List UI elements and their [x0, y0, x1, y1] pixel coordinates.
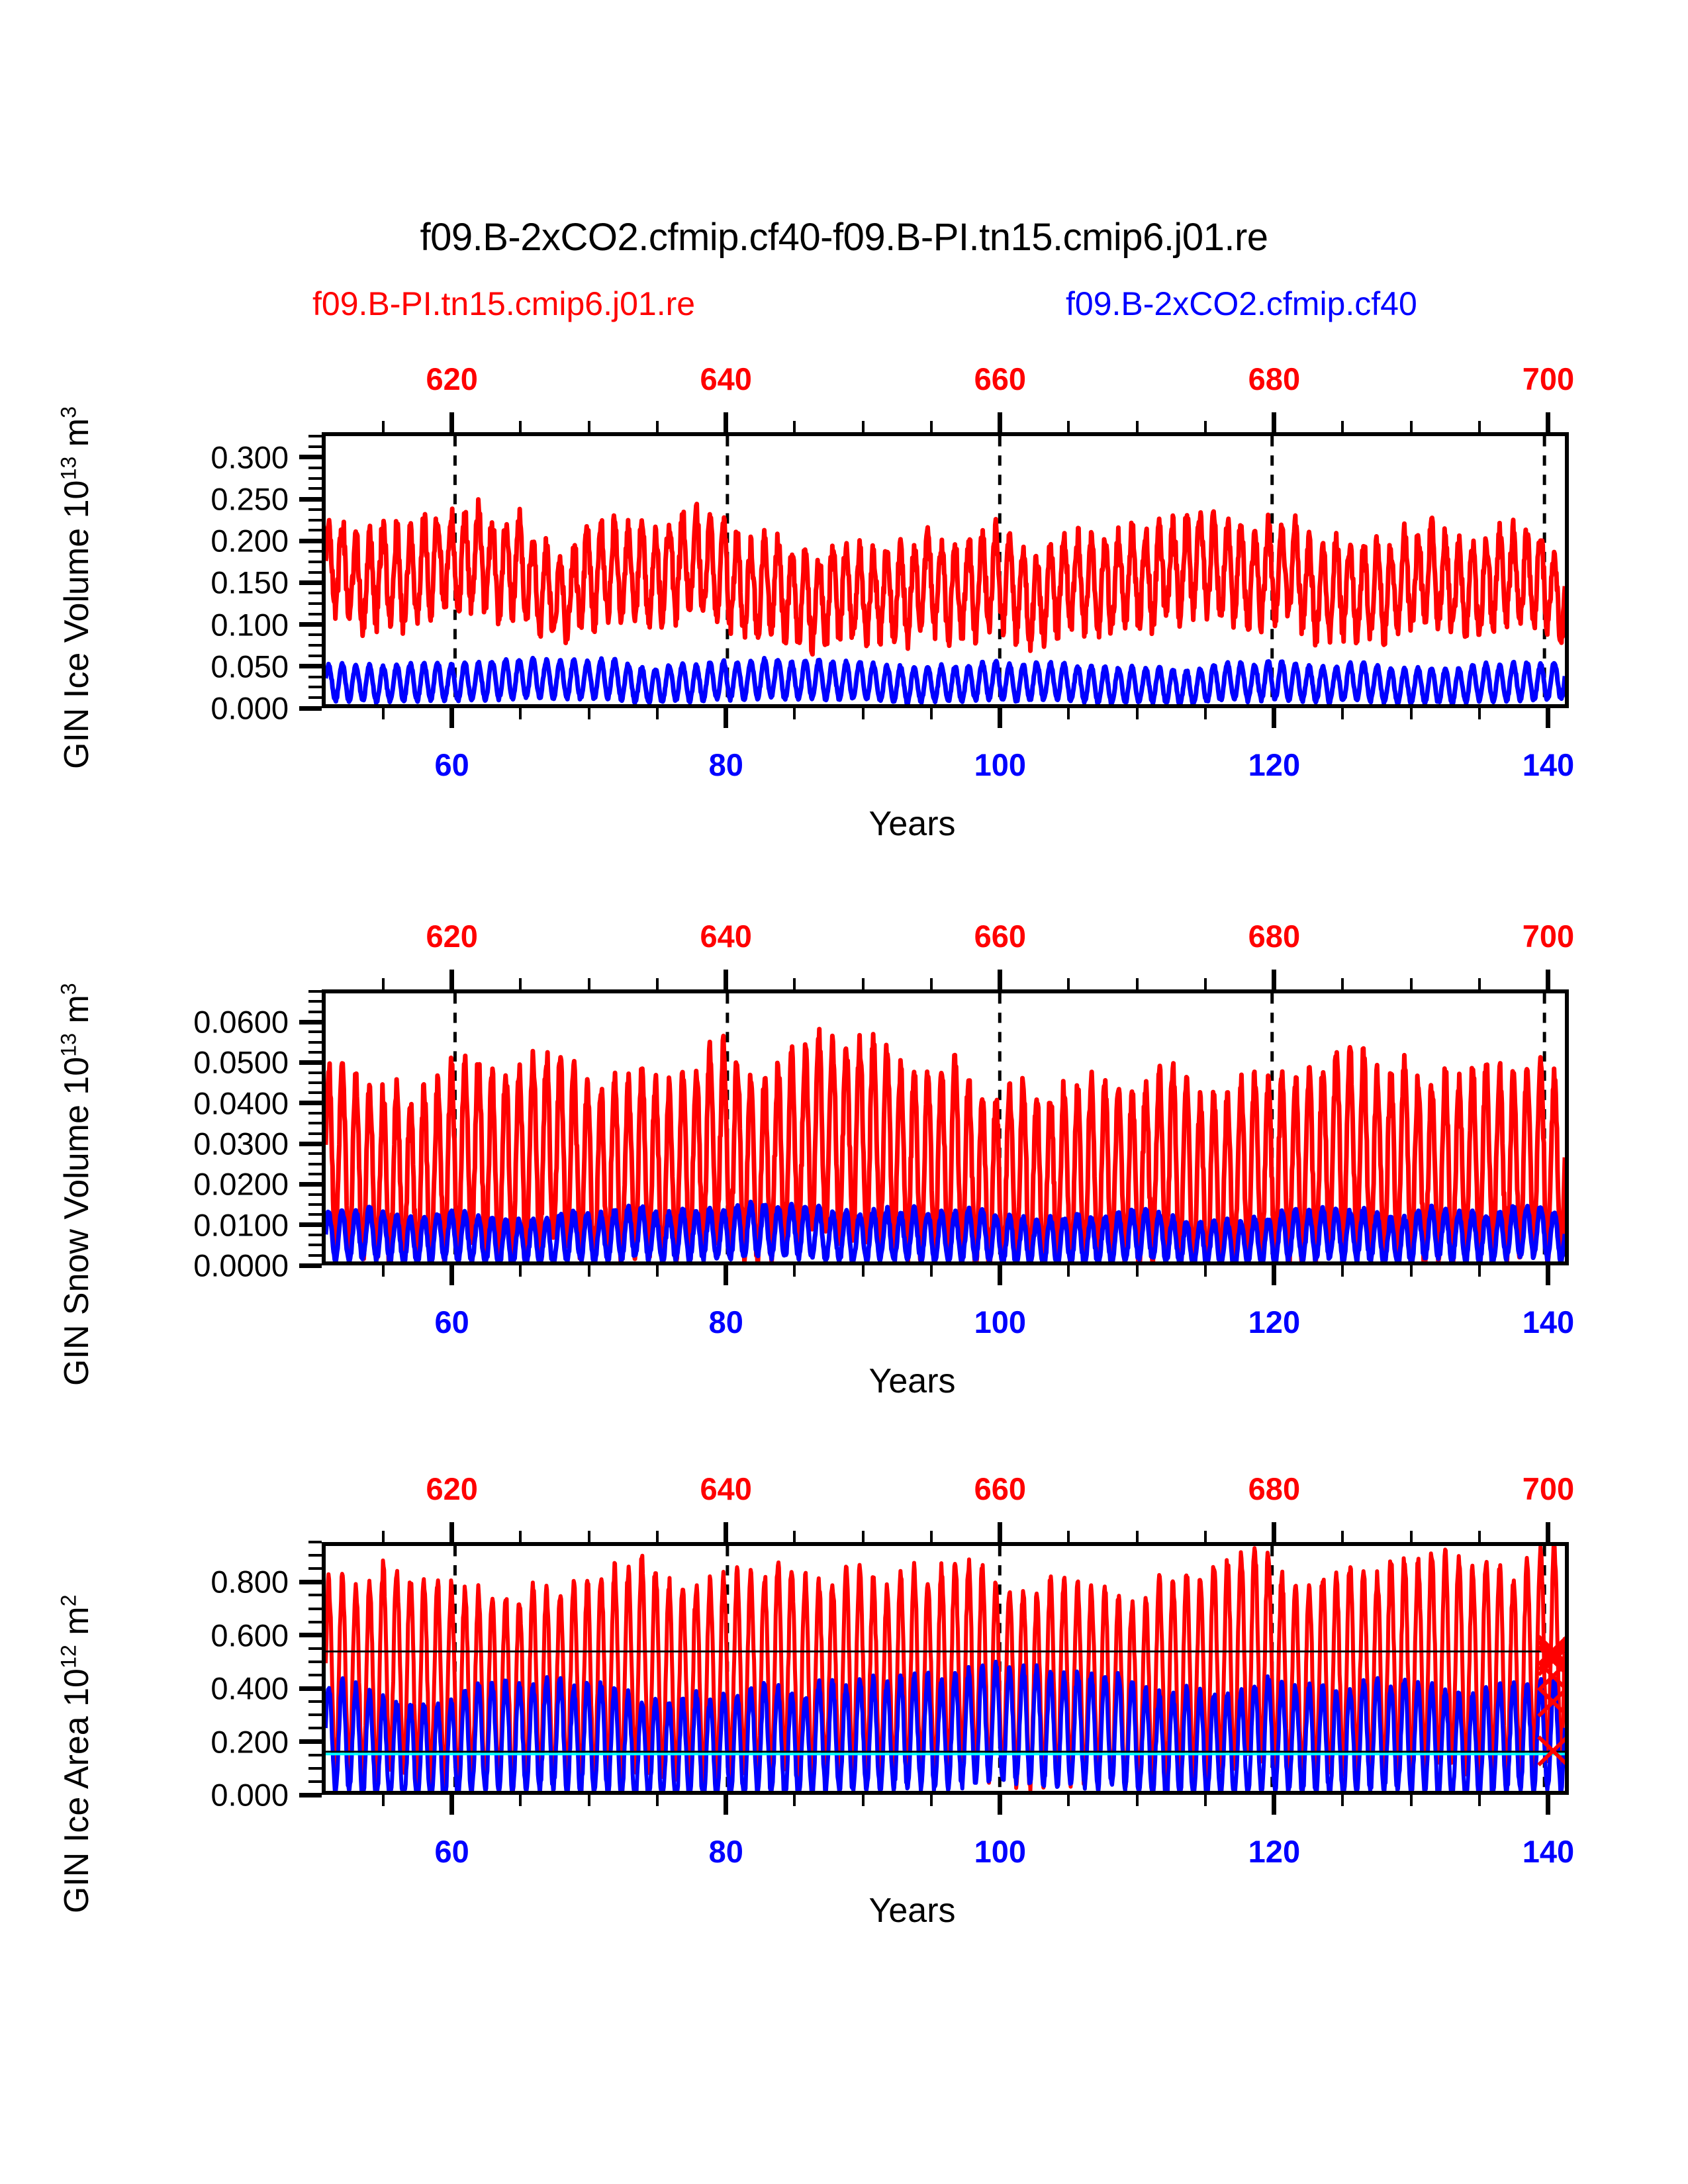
top-axis-minor-tick — [1136, 421, 1139, 432]
y-axis-minor-tick — [308, 1541, 322, 1543]
top-axis-minor-tick — [1341, 421, 1344, 432]
top-axis-minor-tick — [656, 1531, 659, 1542]
bottom-axis-minor-tick — [930, 1795, 933, 1806]
bottom-axis-minor-tick — [382, 1795, 385, 1806]
y-axis-tick-label: 0.000 — [123, 690, 289, 727]
top-axis-minor-tick — [862, 978, 865, 989]
bottom-axis-minor-tick — [793, 708, 796, 719]
y-axis-minor-tick — [308, 1234, 322, 1236]
y-axis-minor-tick — [308, 1030, 322, 1033]
top-axis-minor-tick — [1204, 1531, 1207, 1542]
bottom-axis-minor-tick — [1136, 708, 1139, 719]
top-axis-tick-label: 700 — [1523, 1471, 1574, 1507]
top-axis-major-tick — [724, 1522, 728, 1542]
y-axis-major-tick — [299, 497, 322, 502]
y-axis-tick-label: 0.0500 — [123, 1044, 289, 1081]
y-axis-minor-tick — [308, 1152, 322, 1155]
y-axis-minor-tick — [308, 1767, 322, 1770]
top-axis-minor-tick — [382, 1531, 385, 1542]
y-axis-minor-tick — [308, 1051, 322, 1054]
top-axis-tick-label: 680 — [1248, 918, 1300, 954]
y-axis-minor-tick — [308, 1193, 322, 1196]
top-axis-major-tick — [449, 1522, 454, 1542]
top-axis-major-tick — [724, 970, 728, 989]
y-axis-major-tick — [299, 539, 322, 543]
y-axis-title-text: GIN Ice Area 10 — [58, 1668, 96, 1913]
top-axis-major-tick — [998, 1522, 1002, 1542]
top-axis-minor-tick — [588, 421, 590, 432]
y-axis-tick-label: 0.150 — [123, 565, 289, 601]
top-axis-major-tick — [449, 412, 454, 432]
x-axis-title: Years — [868, 1891, 955, 1931]
top-axis-minor-tick — [1067, 1531, 1070, 1542]
top-axis-minor-tick — [930, 978, 933, 989]
top-axis-major-tick — [1272, 412, 1276, 432]
y-axis-tick-label: 0.0300 — [123, 1126, 289, 1162]
top-axis-tick-label: 680 — [1248, 1471, 1300, 1507]
top-axis-minor-tick — [862, 421, 865, 432]
y-axis-minor-tick — [308, 633, 322, 636]
top-axis-minor-tick — [793, 978, 796, 989]
y-axis-minor-tick — [308, 467, 322, 469]
y-axis-major-tick — [299, 706, 322, 711]
y-axis-minor-tick — [308, 1011, 322, 1013]
y-axis-minor-tick — [308, 676, 322, 678]
y-axis-title-unit-exponent: 3 — [57, 406, 81, 418]
bottom-axis-tick-label: 60 — [435, 747, 469, 783]
y-axis-minor-tick — [308, 1727, 322, 1729]
y-axis-minor-tick — [308, 1122, 322, 1124]
figure-canvas: f09.B-2xCO2.cfmip.cf40-f09.B-PI.tn15.cmi… — [0, 0, 1688, 2184]
y-axis-tick-label: 0.000 — [123, 1777, 289, 1813]
y-axis-title-unit: m — [58, 995, 96, 1033]
y-axis-minor-tick — [308, 1647, 322, 1650]
top-axis-major-tick — [449, 970, 454, 989]
bottom-axis-major-tick — [1546, 708, 1550, 728]
y-axis-major-tick — [299, 1580, 322, 1584]
plot-panel-3: 62064066068070060801001201400.0000.2000.… — [322, 1542, 1569, 1795]
y-axis-minor-tick — [308, 1674, 322, 1676]
top-axis-major-tick — [998, 970, 1002, 989]
y-axis-minor-tick — [308, 435, 322, 437]
y-axis-minor-tick — [308, 1173, 322, 1175]
top-axis-minor-tick — [1341, 978, 1344, 989]
bottom-axis-minor-tick — [1341, 1795, 1344, 1806]
y-axis-minor-tick — [308, 1091, 322, 1094]
bottom-axis-minor-tick — [1067, 708, 1070, 719]
y-axis-major-tick — [299, 1020, 322, 1024]
bottom-axis-minor-tick — [1478, 708, 1481, 719]
y-axis-minor-tick — [308, 1071, 322, 1074]
y-axis-tick-label: 0.050 — [123, 648, 289, 684]
bottom-axis-minor-tick — [519, 1265, 522, 1277]
bottom-axis-minor-tick — [862, 1265, 865, 1277]
y-axis-minor-tick — [308, 1132, 322, 1135]
top-axis-minor-tick — [1341, 1531, 1344, 1542]
bottom-axis-minor-tick — [656, 708, 659, 719]
bottom-axis-minor-tick — [588, 1265, 590, 1277]
bottom-axis-minor-tick — [930, 1265, 933, 1277]
y-axis-minor-tick — [308, 655, 322, 657]
bottom-axis-minor-tick — [1136, 1265, 1139, 1277]
bottom-axis-minor-tick — [1478, 1795, 1481, 1806]
y-axis-tick-label: 0.200 — [123, 1723, 289, 1760]
top-axis-minor-tick — [1136, 1531, 1139, 1542]
top-axis-major-tick — [1546, 1522, 1550, 1542]
y-axis-title-2: GIN Snow Volume 1013 m3 — [57, 983, 97, 1386]
data-series-blue — [326, 658, 1565, 704]
bottom-axis-minor-tick — [1204, 1795, 1207, 1806]
y-axis-minor-tick — [308, 1713, 322, 1716]
y-axis-minor-tick — [308, 1244, 322, 1246]
y-axis-major-tick — [299, 580, 322, 585]
top-axis-minor-tick — [588, 1531, 590, 1542]
plot-area-1 — [322, 432, 1569, 708]
bottom-axis-minor-tick — [1067, 1795, 1070, 1806]
top-axis-minor-tick — [1410, 421, 1413, 432]
x-axis-title: Years — [868, 1361, 955, 1401]
bottom-axis-minor-tick — [1067, 1265, 1070, 1277]
bottom-axis-major-tick — [449, 708, 454, 728]
top-axis-tick-label: 680 — [1248, 361, 1300, 397]
y-axis-tick-label: 0.200 — [123, 523, 289, 559]
y-axis-minor-tick — [308, 1112, 322, 1115]
y-axis-major-tick — [299, 664, 322, 668]
y-axis-major-tick — [299, 1633, 322, 1637]
bottom-axis-minor-tick — [1410, 1265, 1413, 1277]
y-axis-minor-tick — [308, 1700, 322, 1703]
y-axis-tick-label: 0.800 — [123, 1564, 289, 1600]
y-axis-title-text: GIN Snow Volume 10 — [58, 1056, 96, 1385]
bottom-axis-minor-tick — [793, 1795, 796, 1806]
y-axis-tick-label: 0.400 — [123, 1670, 289, 1707]
y-axis-minor-tick — [308, 1554, 322, 1557]
bottom-axis-minor-tick — [588, 1795, 590, 1806]
bottom-axis-tick-label: 140 — [1523, 747, 1574, 783]
y-axis-minor-tick — [308, 696, 322, 699]
bottom-axis-tick-label: 100 — [974, 1304, 1026, 1340]
top-axis-tick-label: 640 — [700, 361, 752, 397]
top-axis-minor-tick — [1478, 421, 1481, 432]
top-axis-minor-tick — [1067, 978, 1070, 989]
top-axis-minor-tick — [1410, 978, 1413, 989]
y-axis-title-3: GIN Ice Area 1012 m2 — [57, 1594, 97, 1913]
bottom-axis-minor-tick — [1204, 708, 1207, 719]
top-axis-tick-label: 660 — [974, 1471, 1026, 1507]
top-axis-tick-label: 640 — [700, 1471, 752, 1507]
y-axis-minor-tick — [308, 487, 322, 490]
y-axis-minor-tick — [308, 445, 322, 448]
bottom-axis-minor-tick — [862, 708, 865, 719]
y-axis-minor-tick — [308, 1594, 322, 1596]
top-axis-major-tick — [1272, 1522, 1276, 1542]
y-axis-minor-tick — [308, 529, 322, 531]
top-axis-tick-label: 700 — [1523, 918, 1574, 954]
top-axis-minor-tick — [930, 1531, 933, 1542]
bottom-axis-major-tick — [724, 1795, 728, 1815]
bottom-axis-minor-tick — [1204, 1265, 1207, 1277]
y-axis-minor-tick — [308, 561, 322, 563]
top-axis-major-tick — [724, 412, 728, 432]
top-axis-minor-tick — [930, 421, 933, 432]
bottom-axis-minor-tick — [519, 708, 522, 719]
y-axis-minor-tick — [308, 1754, 322, 1756]
bottom-axis-minor-tick — [382, 708, 385, 719]
bottom-axis-major-tick — [998, 1795, 1002, 1815]
top-axis-major-tick — [998, 412, 1002, 432]
bottom-axis-major-tick — [724, 1265, 728, 1285]
plot-area-2 — [322, 989, 1569, 1265]
bottom-axis-tick-label: 120 — [1248, 1304, 1300, 1340]
y-axis-minor-tick — [308, 592, 322, 594]
y-axis-minor-tick — [308, 602, 322, 605]
y-axis-major-tick — [299, 1686, 322, 1691]
y-axis-minor-tick — [308, 1661, 322, 1663]
plot-panel-1: 62064066068070060801001201400.0000.0500.… — [322, 432, 1569, 708]
page-title: f09.B-2xCO2.cfmip.cf40-f09.B-PI.tn15.cmi… — [0, 215, 1688, 259]
y-axis-tick-label: 0.250 — [123, 481, 289, 518]
bottom-axis-major-tick — [1546, 1265, 1550, 1285]
bottom-axis-minor-tick — [1341, 708, 1344, 719]
bottom-axis-minor-tick — [793, 1265, 796, 1277]
bottom-axis-major-tick — [1546, 1795, 1550, 1815]
bottom-axis-tick-label: 100 — [974, 747, 1026, 783]
y-axis-tick-label: 0.100 — [123, 606, 289, 643]
y-axis-minor-tick — [308, 990, 322, 993]
y-axis-major-tick — [299, 1182, 322, 1187]
bottom-axis-minor-tick — [1410, 708, 1413, 719]
bottom-axis-major-tick — [449, 1265, 454, 1285]
bottom-axis-minor-tick — [1341, 1265, 1344, 1277]
top-axis-minor-tick — [1478, 1531, 1481, 1542]
bottom-axis-tick-label: 60 — [435, 1304, 469, 1340]
bottom-axis-minor-tick — [588, 708, 590, 719]
top-axis-minor-tick — [1204, 978, 1207, 989]
y-axis-title-unit-exponent: 2 — [57, 1594, 81, 1606]
bottom-axis-major-tick — [1272, 1795, 1276, 1815]
y-axis-minor-tick — [308, 1000, 322, 1003]
y-axis-major-tick — [299, 455, 322, 459]
bottom-axis-tick-label: 120 — [1248, 747, 1300, 783]
bottom-axis-minor-tick — [382, 1265, 385, 1277]
y-axis-title-text: GIN Ice Volume 10 — [58, 480, 96, 768]
bottom-axis-tick-label: 100 — [974, 1833, 1026, 1870]
data-series-red — [326, 499, 1565, 654]
bottom-axis-minor-tick — [519, 1795, 522, 1806]
y-axis-major-tick — [299, 1263, 322, 1268]
top-axis-tick-label: 620 — [426, 361, 477, 397]
y-axis-minor-tick — [308, 1163, 322, 1165]
top-axis-minor-tick — [656, 421, 659, 432]
bottom-axis-tick-label: 80 — [709, 747, 743, 783]
top-axis-minor-tick — [1410, 1531, 1413, 1542]
bottom-axis-major-tick — [1272, 1265, 1276, 1285]
bottom-axis-tick-label: 140 — [1523, 1304, 1574, 1340]
y-axis-major-tick — [299, 1222, 322, 1227]
top-axis-minor-tick — [1067, 421, 1070, 432]
y-axis-minor-tick — [308, 1567, 322, 1570]
y-axis-major-tick — [299, 1101, 322, 1105]
top-axis-minor-tick — [519, 1531, 522, 1542]
y-axis-tick-label: 0.0200 — [123, 1166, 289, 1203]
y-axis-tick-label: 0.0000 — [123, 1248, 289, 1284]
top-axis-minor-tick — [793, 1531, 796, 1542]
bottom-axis-tick-label: 140 — [1523, 1833, 1574, 1870]
y-axis-major-tick — [299, 1142, 322, 1146]
top-axis-tick-label: 700 — [1523, 361, 1574, 397]
bottom-axis-minor-tick — [862, 1795, 865, 1806]
legend-label-blue: f09.B-2xCO2.cfmip.cf40 — [1066, 285, 1417, 323]
bottom-axis-minor-tick — [1478, 1265, 1481, 1277]
y-axis-minor-tick — [308, 1780, 322, 1783]
y-axis-major-tick — [299, 1739, 322, 1744]
top-axis-major-tick — [1272, 970, 1276, 989]
bottom-axis-tick-label: 60 — [435, 1833, 469, 1870]
y-axis-minor-tick — [308, 1081, 322, 1084]
top-axis-tick-label: 640 — [700, 918, 752, 954]
y-axis-tick-label: 0.0600 — [123, 1004, 289, 1040]
top-axis-major-tick — [1546, 412, 1550, 432]
y-axis-minor-tick — [308, 613, 322, 615]
y-axis-minor-tick — [308, 550, 322, 553]
bottom-axis-major-tick — [998, 708, 1002, 728]
y-axis-minor-tick — [308, 1608, 322, 1610]
top-axis-minor-tick — [519, 978, 522, 989]
y-axis-minor-tick — [308, 571, 322, 574]
top-axis-minor-tick — [382, 421, 385, 432]
bottom-axis-minor-tick — [930, 708, 933, 719]
plot-area-3 — [322, 1542, 1569, 1795]
y-axis-title-unit: m — [58, 1606, 96, 1645]
top-axis-minor-tick — [1136, 978, 1139, 989]
y-axis-minor-tick — [308, 1213, 322, 1216]
bottom-axis-major-tick — [449, 1795, 454, 1815]
y-axis-title-exponent: 13 — [57, 1032, 81, 1056]
y-axis-minor-tick — [308, 1041, 322, 1044]
y-axis-minor-tick — [308, 1621, 322, 1623]
y-axis-minor-tick — [308, 686, 322, 688]
bottom-axis-tick-label: 120 — [1248, 1833, 1300, 1870]
y-axis-tick-label: 0.300 — [123, 439, 289, 475]
y-axis-title-1: GIN Ice Volume 1013 m3 — [57, 406, 97, 768]
y-axis-title-unit: m — [58, 418, 96, 456]
top-axis-minor-tick — [862, 1531, 865, 1542]
top-axis-major-tick — [1546, 970, 1550, 989]
bottom-axis-major-tick — [1272, 708, 1276, 728]
legend-label-red: f09.B-PI.tn15.cmip6.j01.re — [312, 285, 695, 323]
series-canvas-3 — [326, 1546, 1565, 1791]
top-axis-minor-tick — [519, 421, 522, 432]
y-axis-title-exponent: 12 — [57, 1645, 81, 1668]
y-axis-minor-tick — [308, 519, 322, 522]
bottom-axis-minor-tick — [656, 1265, 659, 1277]
y-axis-title-exponent: 13 — [57, 456, 81, 480]
y-axis-minor-tick — [308, 508, 322, 511]
bottom-axis-major-tick — [998, 1265, 1002, 1285]
y-axis-minor-tick — [308, 477, 322, 480]
y-axis-tick-label: 0.0100 — [123, 1206, 289, 1243]
y-axis-minor-tick — [308, 1254, 322, 1257]
top-axis-tick-label: 660 — [974, 918, 1026, 954]
x-axis-title: Years — [868, 804, 955, 844]
y-axis-title-unit-exponent: 3 — [57, 983, 81, 995]
bottom-axis-minor-tick — [1410, 1795, 1413, 1806]
y-axis-tick-label: 0.600 — [123, 1617, 289, 1653]
y-axis-minor-tick — [308, 1203, 322, 1206]
series-canvas-2 — [326, 993, 1565, 1261]
y-axis-minor-tick — [308, 644, 322, 647]
bottom-axis-minor-tick — [656, 1795, 659, 1806]
y-axis-major-tick — [299, 1060, 322, 1065]
series-canvas-1 — [326, 436, 1565, 704]
y-axis-major-tick — [299, 622, 322, 627]
plot-panel-2: 62064066068070060801001201400.00000.0100… — [322, 989, 1569, 1265]
top-axis-tick-label: 620 — [426, 1471, 477, 1507]
top-axis-tick-label: 660 — [974, 361, 1026, 397]
bottom-axis-tick-label: 80 — [709, 1833, 743, 1870]
y-axis-major-tick — [299, 1793, 322, 1797]
bottom-axis-major-tick — [724, 708, 728, 728]
top-axis-minor-tick — [656, 978, 659, 989]
top-axis-tick-label: 620 — [426, 918, 477, 954]
top-axis-minor-tick — [793, 421, 796, 432]
bottom-axis-minor-tick — [1136, 1795, 1139, 1806]
y-axis-tick-label: 0.0400 — [123, 1085, 289, 1121]
top-axis-minor-tick — [382, 978, 385, 989]
top-axis-minor-tick — [1478, 978, 1481, 989]
top-axis-minor-tick — [1204, 421, 1207, 432]
bottom-axis-tick-label: 80 — [709, 1304, 743, 1340]
top-axis-minor-tick — [588, 978, 590, 989]
